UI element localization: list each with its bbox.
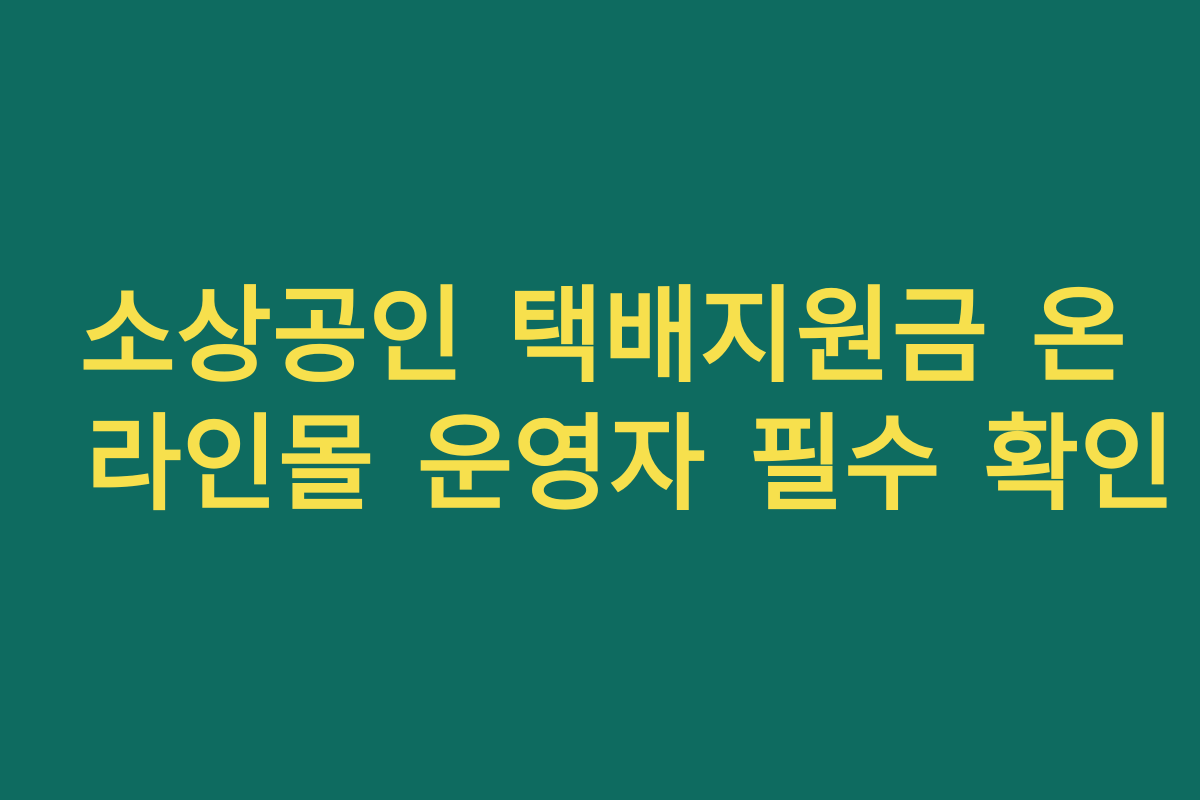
banner-canvas: 소상공인 택배지원금 온 라인몰 운영자 필수 확인	[0, 0, 1200, 800]
headline-line-2: 라인몰 운영자 필수 확인	[86, 400, 1120, 528]
headline-line-1: 소상공인 택배지원금 온	[80, 272, 1120, 400]
page-title: 소상공인 택배지원금 온 라인몰 운영자 필수 확인	[80, 272, 1120, 528]
